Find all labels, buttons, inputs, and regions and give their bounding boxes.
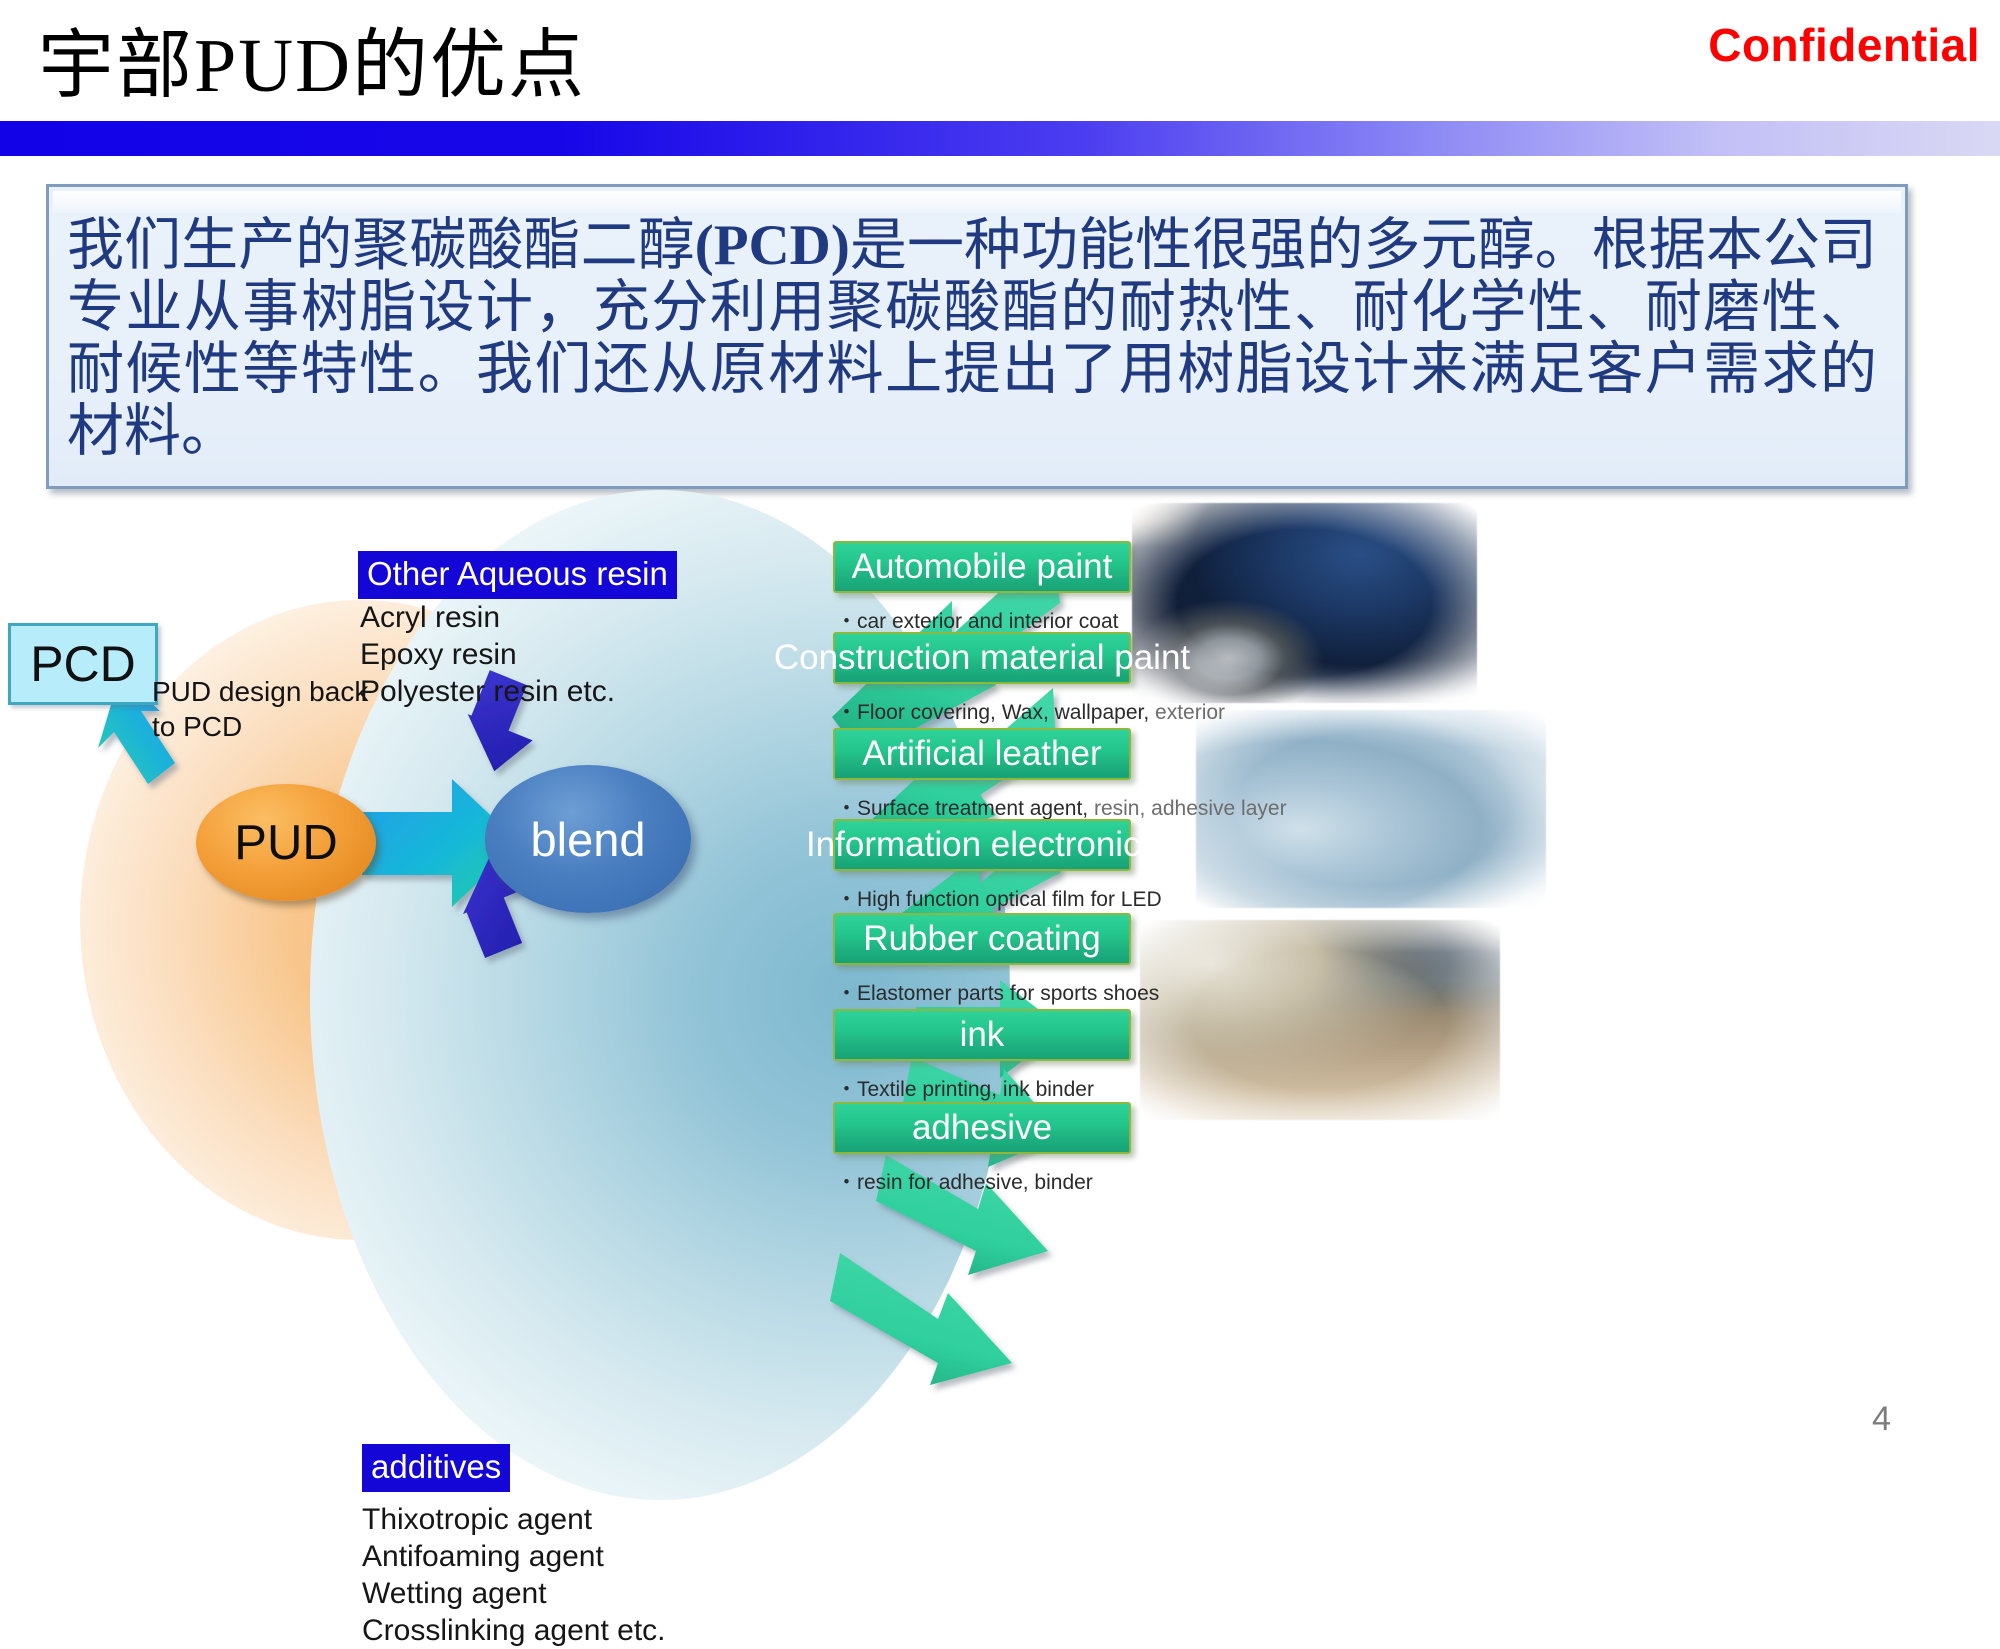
app-caption-information-electronics: ・High function optical film for LED <box>836 883 1162 913</box>
app-box-ink[interactable]: ink <box>833 1009 1131 1061</box>
caption-text: ・High function optical film for LED <box>836 888 1162 911</box>
app-caption-artificial-leather: ・Surface treatment agent, resin, adhesiv… <box>836 792 1287 822</box>
app-caption-adhesive: ・resin for adhesive, binder <box>836 1166 1093 1196</box>
caption-text: ・car exterior and interior coat <box>836 610 1118 633</box>
caption-dim-text: exterior <box>1155 701 1225 724</box>
page-title: 宇部PUD的优点 <box>38 18 586 114</box>
caption-text: ・Surface treatment agent, <box>836 797 1094 820</box>
body-textbox: 我们生产的聚碳酸酯二醇(PCD)是一种功能性很强的多元醇。根据本公司专业从事树脂… <box>46 184 1908 489</box>
pcd-node[interactable]: PCD <box>8 623 158 705</box>
app-caption-construction-material-paint: ・Floor covering, Wax, wallpaper, exterio… <box>836 696 1225 726</box>
app-box-rubber-coating[interactable]: Rubber coating <box>833 913 1131 965</box>
photo-floor-interior <box>1140 920 1500 1120</box>
app-caption-automobile-paint: ・car exterior and interior coat <box>836 605 1118 635</box>
additives-list: Thixotropic agent Antifoaming agent Wett… <box>362 1501 666 1649</box>
app-caption-ink: ・Textile printing, ink binder <box>836 1073 1094 1103</box>
additives-tag: additives <box>362 1444 510 1492</box>
app-caption-rubber-coating: ・Elastomer parts for sports shoes <box>836 977 1159 1007</box>
blend-node[interactable]: blend <box>485 765 691 913</box>
app-box-construction-material-paint[interactable]: Construction material paint <box>833 632 1131 684</box>
app-box-information-electronics[interactable]: Information electronics <box>833 819 1131 871</box>
paragraph-pcd-abbrev: (PCD) <box>695 214 850 277</box>
pud-design-back-note: PUD design back to PCD <box>152 674 368 744</box>
process-diagram: PCD PUD blend PUD design back to PCD Oth… <box>0 495 2000 1500</box>
caption-dim-text: resin, adhesive layer <box>1094 797 1287 820</box>
caption-text: ・Textile printing, ink binder <box>836 1078 1094 1101</box>
confidential-badge: Confidential <box>1708 18 1980 72</box>
page-number: 4 <box>1872 1400 1891 1439</box>
paragraph-part-1: 我们生产的聚碳酸酯二醇 <box>67 214 695 277</box>
caption-text: ・resin for adhesive, binder <box>836 1171 1093 1194</box>
pud-node[interactable]: PUD <box>196 784 376 901</box>
other-aqueous-resin-tag: Other Aqueous resin <box>358 551 677 599</box>
app-box-adhesive[interactable]: adhesive <box>833 1102 1131 1154</box>
header-divider <box>0 121 2000 156</box>
other-aqueous-resin-list: Acryl resin Epoxy resin Polyester resin … <box>360 599 615 710</box>
app-box-artificial-leather[interactable]: Artificial leather <box>833 728 1131 780</box>
app-box-automobile-paint[interactable]: Automobile paint <box>833 541 1131 593</box>
caption-text: ・Elastomer parts for sports shoes <box>836 982 1159 1005</box>
body-paragraph: 我们生产的聚碳酸酯二醇(PCD)是一种功能性很强的多元醇。根据本公司专业从事树脂… <box>67 215 1877 463</box>
caption-text: ・Floor covering, Wax, wallpaper, <box>836 701 1155 724</box>
